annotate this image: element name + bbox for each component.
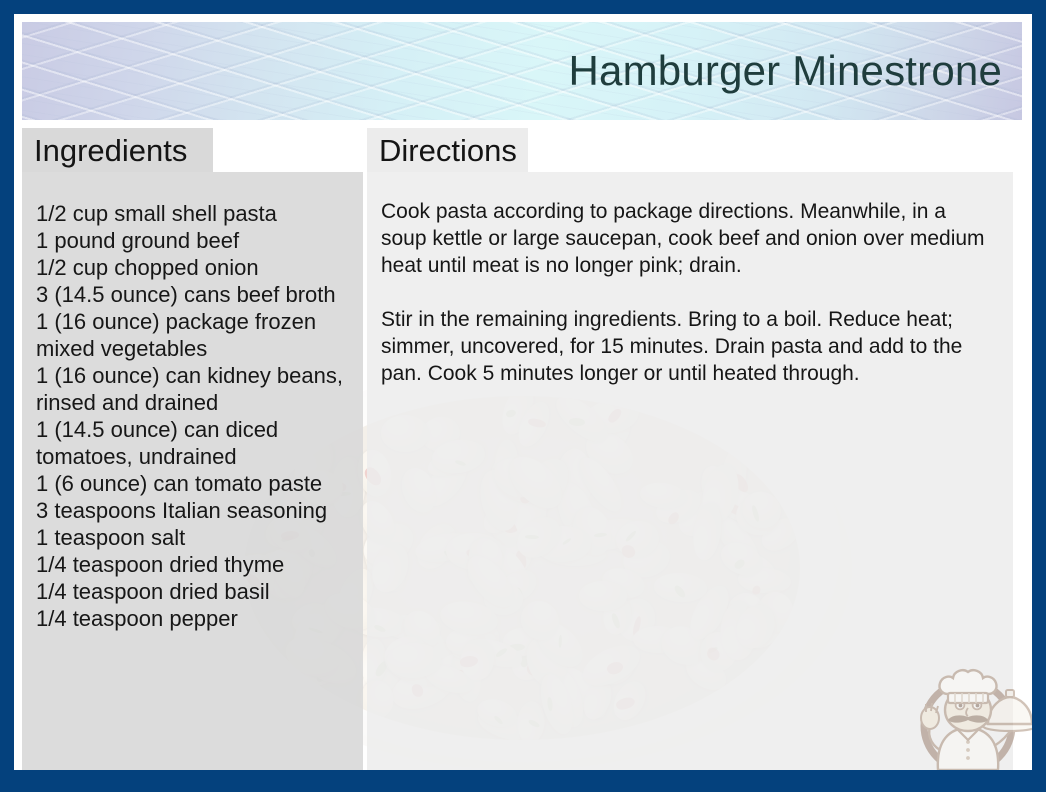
tab-ingredients[interactable]: Ingredients [22,128,213,172]
tab-ingredients-label: Ingredients [34,135,187,166]
ingredient-item: 1/4 teaspoon dried thyme [36,551,349,578]
ingredient-item: 1 (6 ounce) can tomato paste [36,470,349,497]
direction-paragraph: Stir in the remaining ingredients. Bring… [381,306,995,387]
panel-directions: Cook pasta according to package directio… [367,172,1013,770]
tab-directions-label: Directions [379,135,517,166]
ingredient-item: 1/4 teaspoon dried basil [36,578,349,605]
panel-ingredients: 1/2 cup small shell pasta1 pound ground … [22,172,363,770]
page-surface: Hamburger Minestrone Ingredients 1/2 cup… [14,14,1032,770]
direction-paragraph: Cook pasta according to package directio… [381,198,995,279]
ingredient-list: 1/2 cup small shell pasta1 pound ground … [36,200,349,632]
ingredient-item: 3 teaspoons Italian seasoning [36,497,349,524]
directions-body: Cook pasta according to package directio… [381,198,995,387]
ingredient-item: 1/2 cup chopped onion [36,254,349,281]
ingredient-item: 1 (14.5 ounce) can diced tomatoes, undra… [36,416,349,470]
ingredient-item: 1/2 cup small shell pasta [36,200,349,227]
recipe-card: Hamburger Minestrone Ingredients 1/2 cup… [0,0,1046,792]
recipe-title: Hamburger Minestrone [568,47,1002,95]
ingredient-item: 1/4 teaspoon pepper [36,605,349,632]
ingredient-item: 1 (16 ounce) can kidney beans, rinsed an… [36,362,349,416]
ingredient-item: 1 teaspoon salt [36,524,349,551]
tab-directions[interactable]: Directions [367,128,528,172]
ingredient-item: 1 pound ground beef [36,227,349,254]
ingredient-item: 1 (16 ounce) package frozen mixed vegeta… [36,308,349,362]
title-banner: Hamburger Minestrone [22,22,1022,120]
ingredient-item: 3 (14.5 ounce) cans beef broth [36,281,349,308]
